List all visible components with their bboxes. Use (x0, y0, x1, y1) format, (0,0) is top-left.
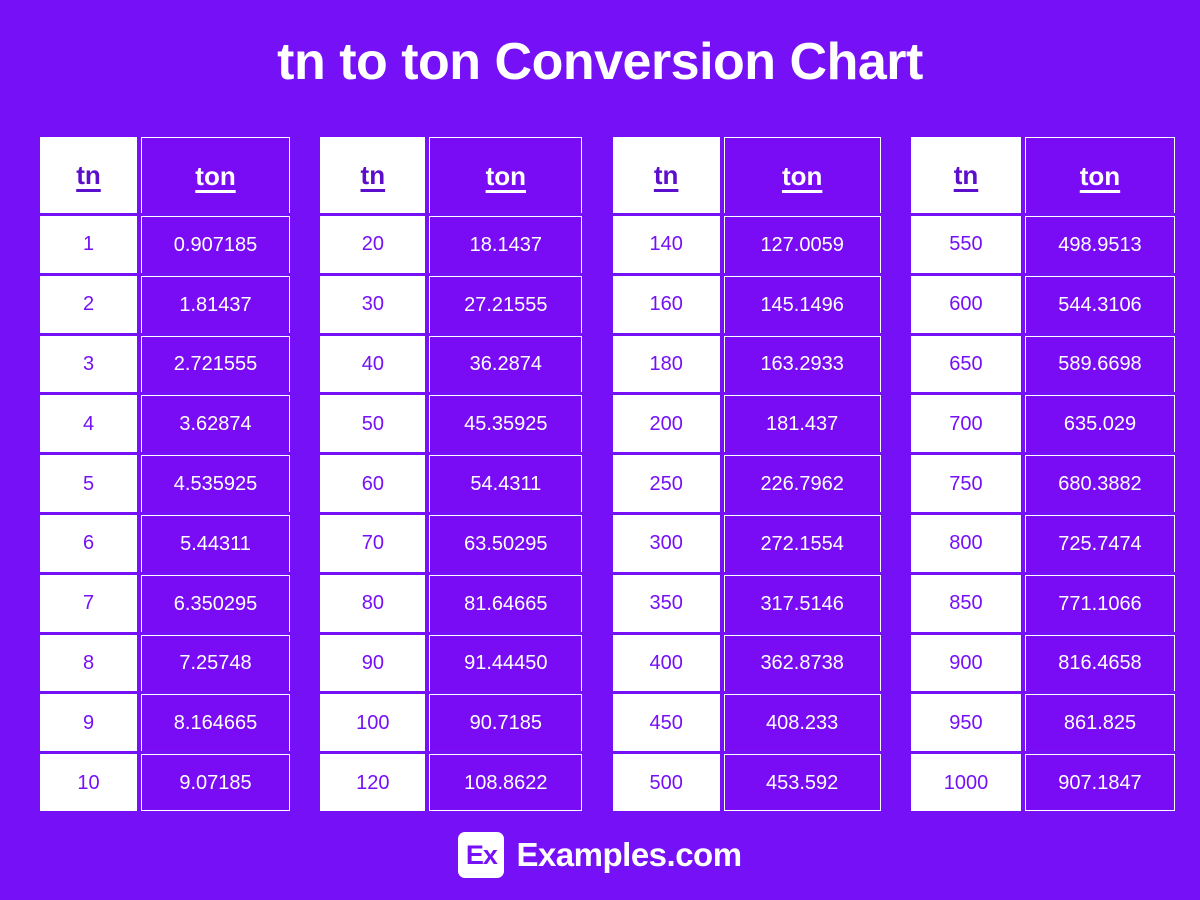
cell-ton: 408.233 (724, 694, 881, 751)
cell-ton: 36.2874 (429, 336, 582, 393)
table-row: 180163.2933 (613, 336, 881, 393)
cell-ton: 272.1554 (724, 515, 881, 572)
table-row: 32.721555 (40, 336, 290, 393)
cell-tn: 180 (613, 336, 720, 393)
conversion-table-1: tn ton 10.907185 21.81437 32.721555 43.6… (40, 137, 290, 811)
page-title: tn to ton Conversion Chart (0, 0, 1200, 91)
cell-tn: 1 (40, 216, 137, 273)
cell-tn: 9 (40, 694, 137, 751)
cell-ton: 91.44450 (429, 635, 582, 692)
cell-ton: 907.1847 (1025, 754, 1175, 811)
cell-tn: 1000 (911, 754, 1021, 811)
table-row: 76.350295 (40, 575, 290, 632)
cell-ton: 163.2933 (724, 336, 881, 393)
table-row: 450408.233 (613, 694, 881, 751)
cell-tn: 450 (613, 694, 720, 751)
cell-tn: 50 (320, 395, 425, 452)
cell-ton: 54.4311 (429, 455, 582, 512)
cell-tn: 900 (911, 635, 1021, 692)
table-row: 950861.825 (911, 694, 1175, 751)
cell-tn: 5 (40, 455, 137, 512)
header-cell-ton: ton (724, 137, 881, 213)
cell-tn: 90 (320, 635, 425, 692)
cell-ton: 861.825 (1025, 694, 1175, 751)
cell-tn: 350 (613, 575, 720, 632)
conversion-tables-container: tn ton 10.907185 21.81437 32.721555 43.6… (40, 137, 1175, 811)
table-row: 10.907185 (40, 216, 290, 273)
cell-tn: 800 (911, 515, 1021, 572)
cell-tn: 2 (40, 276, 137, 333)
table-row: 54.535925 (40, 455, 290, 512)
table-row: 109.07185 (40, 754, 290, 811)
cell-ton: 317.5146 (724, 575, 881, 632)
table-row: 250226.7962 (613, 455, 881, 512)
cell-tn: 60 (320, 455, 425, 512)
table-header-row: tn ton (40, 137, 290, 213)
cell-tn: 8 (40, 635, 137, 692)
table-row: 300272.1554 (613, 515, 881, 572)
table-row: 2018.1437 (320, 216, 582, 273)
cell-ton: 5.44311 (141, 515, 290, 572)
cell-ton: 18.1437 (429, 216, 582, 273)
table-row: 8081.64665 (320, 575, 582, 632)
table-row: 400362.8738 (613, 635, 881, 692)
cell-ton: 27.21555 (429, 276, 582, 333)
cell-tn: 7 (40, 575, 137, 632)
cell-tn: 650 (911, 336, 1021, 393)
cell-tn: 6 (40, 515, 137, 572)
cell-tn: 750 (911, 455, 1021, 512)
table-header-row: tn ton (911, 137, 1175, 213)
header-cell-ton: ton (429, 137, 582, 213)
cell-ton: 8.164665 (141, 694, 290, 751)
conversion-chart-page: tn to ton Conversion Chart tn ton 10.907… (0, 0, 1200, 900)
cell-ton: 226.7962 (724, 455, 881, 512)
cell-tn: 100 (320, 694, 425, 751)
table-row: 10090.7185 (320, 694, 582, 751)
table-row: 750680.3882 (911, 455, 1175, 512)
conversion-table-3: tn ton 140127.0059 160145.1496 180163.29… (613, 137, 881, 811)
table-row: 120108.8622 (320, 754, 582, 811)
cell-tn: 30 (320, 276, 425, 333)
cell-ton: 127.0059 (724, 216, 881, 273)
table-row: 4036.2874 (320, 336, 582, 393)
cell-tn: 500 (613, 754, 720, 811)
table-row: 6054.4311 (320, 455, 582, 512)
cell-tn: 40 (320, 336, 425, 393)
cell-ton: 771.1066 (1025, 575, 1175, 632)
header-cell-tn: tn (40, 137, 137, 213)
cell-ton: 1.81437 (141, 276, 290, 333)
cell-tn: 250 (613, 455, 720, 512)
header-cell-ton: ton (141, 137, 290, 213)
table-row: 1000907.1847 (911, 754, 1175, 811)
cell-ton: 45.35925 (429, 395, 582, 452)
cell-ton: 2.721555 (141, 336, 290, 393)
examples-logo-text: Examples.com (516, 836, 741, 874)
cell-ton: 9.07185 (141, 754, 290, 811)
table-row: 3027.21555 (320, 276, 582, 333)
cell-tn: 140 (613, 216, 720, 273)
cell-ton: 3.62874 (141, 395, 290, 452)
cell-tn: 3 (40, 336, 137, 393)
cell-tn: 850 (911, 575, 1021, 632)
cell-tn: 80 (320, 575, 425, 632)
table-row: 7063.50295 (320, 515, 582, 572)
header-cell-tn: tn (911, 137, 1021, 213)
cell-ton: 0.907185 (141, 216, 290, 273)
conversion-table-4: tn ton 550498.9513 600544.3106 650589.66… (911, 137, 1175, 811)
table-row: 43.62874 (40, 395, 290, 452)
cell-tn: 300 (613, 515, 720, 572)
cell-ton: 362.8738 (724, 635, 881, 692)
table-row: 550498.9513 (911, 216, 1175, 273)
cell-ton: 544.3106 (1025, 276, 1175, 333)
cell-ton: 181.437 (724, 395, 881, 452)
header-cell-ton: ton (1025, 137, 1175, 213)
cell-ton: 635.029 (1025, 395, 1175, 452)
cell-tn: 160 (613, 276, 720, 333)
cell-tn: 400 (613, 635, 720, 692)
table-row: 350317.5146 (613, 575, 881, 632)
cell-ton: 816.4658 (1025, 635, 1175, 692)
table-header-row: tn ton (320, 137, 582, 213)
cell-ton: 63.50295 (429, 515, 582, 572)
table-row: 650589.6698 (911, 336, 1175, 393)
table-row: 21.81437 (40, 276, 290, 333)
cell-ton: 680.3882 (1025, 455, 1175, 512)
cell-tn: 600 (911, 276, 1021, 333)
cell-ton: 90.7185 (429, 694, 582, 751)
examples-logo-icon: Ex (458, 832, 504, 878)
cell-ton: 589.6698 (1025, 336, 1175, 393)
header-cell-tn: tn (320, 137, 425, 213)
cell-tn: 120 (320, 754, 425, 811)
conversion-table-2: tn ton 2018.1437 3027.21555 4036.2874 50… (320, 137, 582, 811)
footer-branding: Ex Examples.com (0, 832, 1200, 878)
cell-ton: 108.8622 (429, 754, 582, 811)
cell-tn: 550 (911, 216, 1021, 273)
cell-ton: 453.592 (724, 754, 881, 811)
table-row: 98.164665 (40, 694, 290, 751)
table-row: 900816.4658 (911, 635, 1175, 692)
table-row: 5045.35925 (320, 395, 582, 452)
table-row: 140127.0059 (613, 216, 881, 273)
cell-ton: 4.535925 (141, 455, 290, 512)
table-row: 600544.3106 (911, 276, 1175, 333)
cell-tn: 200 (613, 395, 720, 452)
cell-tn: 20 (320, 216, 425, 273)
table-header-row: tn ton (613, 137, 881, 213)
cell-ton: 725.7474 (1025, 515, 1175, 572)
cell-ton: 7.25748 (141, 635, 290, 692)
table-row: 160145.1496 (613, 276, 881, 333)
cell-ton: 145.1496 (724, 276, 881, 333)
cell-ton: 498.9513 (1025, 216, 1175, 273)
cell-tn: 700 (911, 395, 1021, 452)
cell-tn: 10 (40, 754, 137, 811)
cell-ton: 6.350295 (141, 575, 290, 632)
table-row: 500453.592 (613, 754, 881, 811)
table-row: 800725.7474 (911, 515, 1175, 572)
cell-ton: 81.64665 (429, 575, 582, 632)
cell-tn: 950 (911, 694, 1021, 751)
table-row: 65.44311 (40, 515, 290, 572)
header-cell-tn: tn (613, 137, 720, 213)
table-row: 700635.029 (911, 395, 1175, 452)
table-row: 200181.437 (613, 395, 881, 452)
table-row: 9091.44450 (320, 635, 582, 692)
table-row: 850771.1066 (911, 575, 1175, 632)
table-row: 87.25748 (40, 635, 290, 692)
cell-tn: 70 (320, 515, 425, 572)
cell-tn: 4 (40, 395, 137, 452)
